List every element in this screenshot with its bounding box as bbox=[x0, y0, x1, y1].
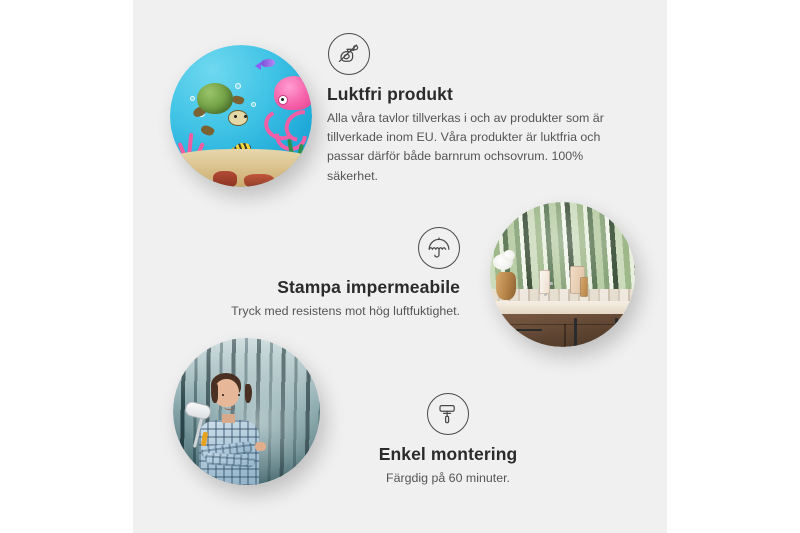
feature-description: Alla våra tavlor tillverkas i och av pro… bbox=[327, 109, 629, 186]
bubble-icon bbox=[190, 96, 195, 101]
rock bbox=[244, 174, 274, 187]
countertop bbox=[490, 301, 635, 314]
wood-accessory bbox=[580, 277, 588, 297]
underwater-kids-scene-photo[interactable] bbox=[170, 45, 312, 187]
feature-description: Tryck med resistens mot hög luftfuktighe… bbox=[160, 302, 460, 321]
soap-bottle bbox=[539, 270, 550, 294]
feature-title: Enkel montering bbox=[303, 444, 593, 465]
content-panel: Luktfri produkt Alla våra tavlor tillver… bbox=[133, 0, 667, 533]
no-fragrance-icon bbox=[328, 33, 370, 75]
octopus-head bbox=[274, 76, 312, 110]
neck bbox=[222, 414, 235, 423]
woman-painter-forest-mural-photo[interactable] bbox=[173, 338, 320, 485]
cabinet-handle bbox=[615, 318, 618, 347]
icon-row bbox=[303, 393, 593, 435]
paint-roller-icon bbox=[427, 393, 469, 435]
shell bbox=[278, 175, 298, 187]
icon-row bbox=[327, 33, 629, 75]
vanity-seam bbox=[564, 324, 566, 347]
wood-vanity bbox=[499, 314, 635, 347]
white-flowers bbox=[503, 250, 515, 261]
painter-photo-inner bbox=[173, 338, 320, 485]
turtle-eye bbox=[244, 115, 247, 118]
turtle-eye bbox=[234, 115, 237, 118]
bubble-icon bbox=[251, 102, 256, 107]
feature-easy-install: Enkel montering Färgdig på 60 minuter. bbox=[303, 393, 593, 488]
feature-odourless: Luktfri produkt Alla våra tavlor tillver… bbox=[327, 33, 629, 186]
feature-description: Färgdig på 60 minuter. bbox=[303, 469, 593, 488]
hair-strand bbox=[211, 384, 218, 403]
screenshot-root: Luktfri produkt Alla våra tavlor tillver… bbox=[0, 0, 800, 533]
eye bbox=[238, 394, 241, 396]
bathroom-botanical-wallpaper-photo[interactable] bbox=[490, 202, 635, 347]
feature-title: Stampa impermeabile bbox=[160, 277, 460, 298]
eye bbox=[222, 394, 225, 396]
rock bbox=[213, 171, 237, 187]
turtle-shell bbox=[197, 83, 233, 114]
vase bbox=[496, 272, 516, 300]
feature-waterproof: Stampa impermeabile Tryck med resistens … bbox=[160, 227, 460, 321]
feature-title: Luktfri produkt bbox=[327, 84, 629, 105]
icon-row bbox=[160, 227, 460, 269]
cabinet-handle bbox=[574, 318, 577, 347]
drawer-handle bbox=[516, 329, 542, 332]
ocean-photo-inner bbox=[170, 45, 312, 187]
bathroom-photo-inner bbox=[490, 202, 635, 347]
umbrella-icon bbox=[418, 227, 460, 269]
